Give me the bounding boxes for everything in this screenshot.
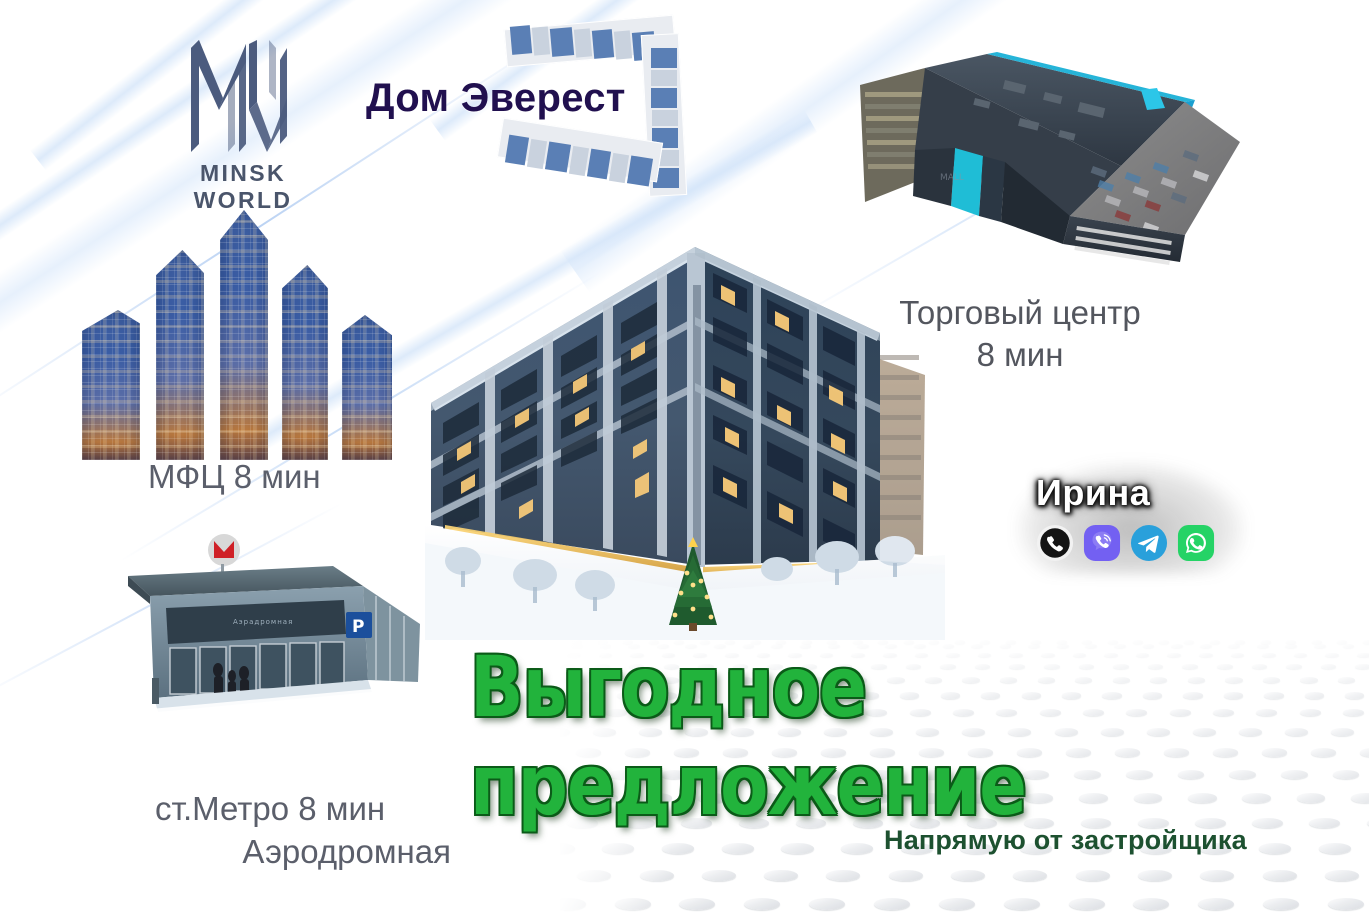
house-name-label: Дом Эверест — [366, 76, 626, 121]
viber-icon[interactable] — [1083, 524, 1121, 562]
contact-icons-row[interactable] — [1036, 524, 1215, 562]
direct-from-developer-label: Напрямую от застройщика — [884, 825, 1247, 856]
brand-logo: MINSK WORLD — [148, 40, 338, 214]
svg-text:P: P — [352, 617, 364, 637]
agent-name-label: Ирина — [1036, 472, 1150, 514]
telegram-icon[interactable] — [1130, 524, 1168, 562]
main-building-render — [425, 225, 945, 640]
mfc-distance-label: МФЦ 8 мин — [148, 458, 321, 496]
svg-text:Аэрадромная: Аэрадромная — [233, 618, 293, 626]
metro-distance-label: ст.Метро 8 мин Аэродромная — [155, 745, 455, 913]
whatsapp-icon[interactable] — [1177, 524, 1215, 562]
svg-text:MALL: MALL — [940, 173, 964, 183]
offer-headline: Выгодное предложение — [470, 638, 1306, 834]
promo-poster: MINSK WORLD — [0, 0, 1369, 913]
metro-distance-main: ст.Метро 8 мин — [155, 790, 385, 827]
metro-station-name: Аэродромная — [155, 831, 455, 874]
phone-icon[interactable] — [1036, 524, 1074, 562]
mw-monogram-icon — [183, 40, 303, 152]
mall-distance-label: Торговый центр 8 мин — [870, 292, 1170, 376]
metro-station-image: Аэрадромная P — [118, 530, 448, 730]
mfc-skyscrapers-image — [70, 200, 400, 460]
